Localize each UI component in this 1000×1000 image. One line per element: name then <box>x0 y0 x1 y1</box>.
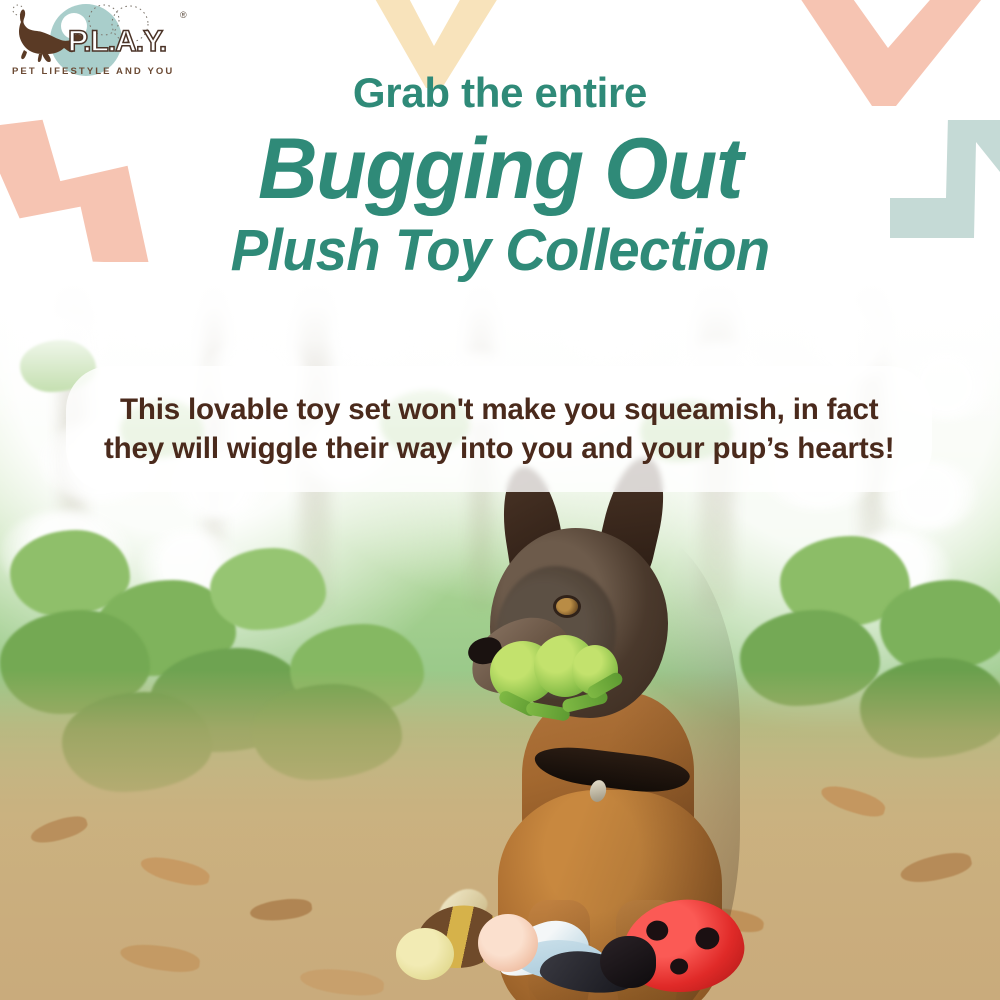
dragonfly-plush-head <box>478 914 538 972</box>
headline-block: Grab the entire Bugging Out Plush Toy Co… <box>0 72 1000 283</box>
body-copy: This lovable toy set won't make you sque… <box>78 390 920 468</box>
dog-eye <box>556 598 578 615</box>
body-copy-line-1: This lovable toy set won't make you sque… <box>104 390 894 429</box>
registered-mark: ® <box>180 10 187 20</box>
headline-line-2: Bugging Out <box>20 121 980 217</box>
plush-toy-group <box>390 870 790 1000</box>
ladybug-plush-head <box>600 936 656 988</box>
bee-plush-head <box>396 928 454 980</box>
promo-ad-canvas: P.L.A.Y. ® PET LIFESTYLE AND YOU Grab th… <box>0 0 1000 1000</box>
headline-line-3: Plush Toy Collection <box>15 219 985 283</box>
body-copy-panel: This lovable toy set won't make you sque… <box>66 366 932 492</box>
logo-wordmark: P.L.A.Y. <box>68 25 166 58</box>
brand-logo[interactable]: P.L.A.Y. ® PET LIFESTYLE AND YOU <box>8 4 208 82</box>
headline-line-1: Grab the entire <box>0 72 1000 115</box>
body-copy-line-2: they will wiggle their way into you and … <box>104 429 894 468</box>
caterpillar-plush-toy <box>490 635 620 735</box>
